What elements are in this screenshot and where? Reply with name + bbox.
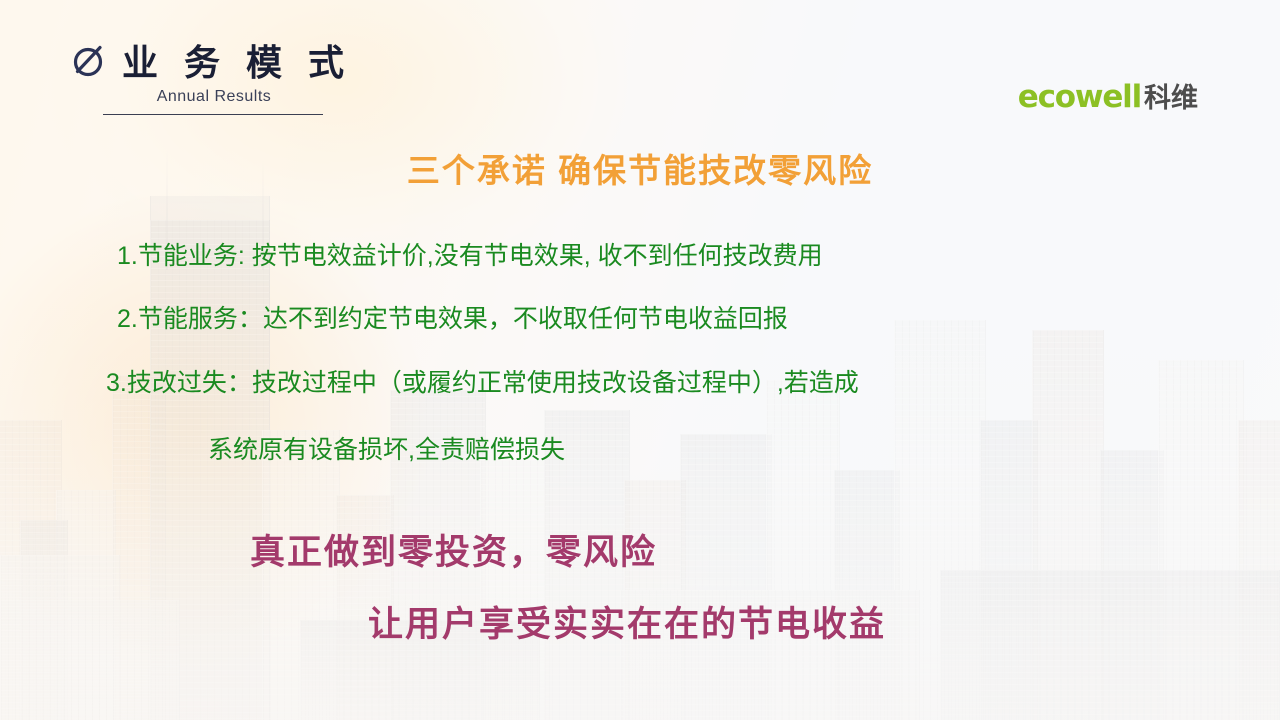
brand-logo: ecowell 科维 [1018, 76, 1198, 115]
page-subtitle: Annual Results [104, 88, 324, 106]
promise-item-3-continued: 系统原有设备损坏,全责赔偿损失 [208, 430, 565, 466]
brand-logo-chinese: 科维 [1144, 76, 1198, 115]
promise-item-3: 3.技改过失：技改过程中（或履约正常使用技改设备过程中）,若造成 [106, 363, 859, 399]
slashed-circle-icon [70, 41, 108, 79]
brand-logo-english: ecowell [1018, 79, 1141, 115]
section-headline: 三个承诺 确保节能技改零风险 [0, 144, 1280, 192]
header-divider [103, 114, 323, 115]
promise-item-1: 1.节能业务: 按节电效益计价,没有节电效果, 收不到任何技改费用 [117, 236, 823, 272]
slide-canvas: 业 务 模 式 Annual Results ecowell 科维 三个承诺 确… [0, 0, 1280, 720]
promise-item-2: 2.节能服务：达不到约定节电效果，不收取任何节电收益回报 [117, 299, 788, 335]
page-title: 业 务 模 式 [122, 34, 352, 86]
conclusion-line-2: 让用户享受实实在在的节电收益 [368, 596, 886, 647]
conclusion-line-1: 真正做到零投资，零风险 [250, 524, 657, 575]
